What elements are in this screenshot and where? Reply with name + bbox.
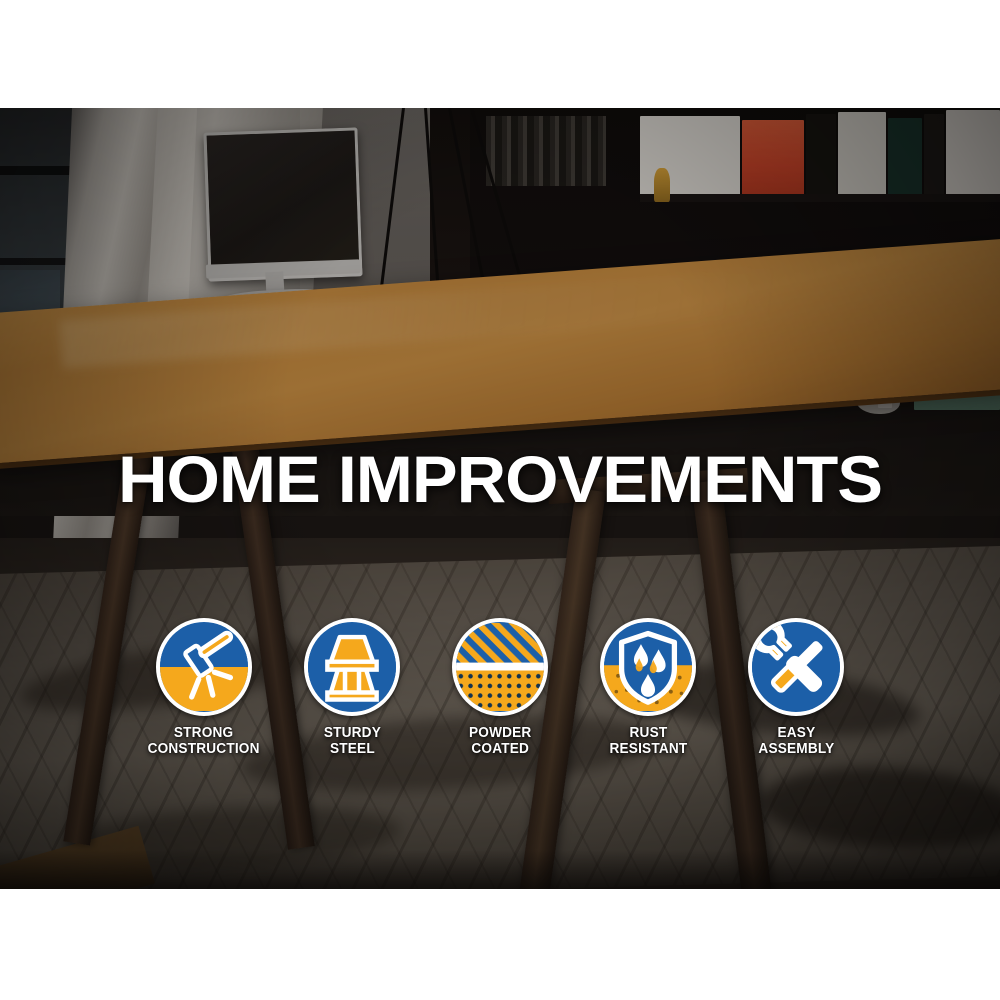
page-title: HOME IMPROVEMENTS — [0, 446, 1000, 512]
feature-label: EASY ASSEMBLY — [758, 725, 834, 757]
feature-powder-coated[interactable]: POWDER COATED — [441, 618, 559, 757]
feature-label: STURDY STEEL — [323, 725, 380, 757]
feature-rust-resistant[interactable]: RUST RESISTANT — [589, 618, 707, 757]
feature-label-line1: STRONG — [174, 725, 233, 741]
feature-label-line1: POWDER — [469, 725, 531, 741]
feature-label: RUST RESISTANT — [609, 725, 687, 757]
shield-water-droplets-icon — [600, 618, 696, 716]
feature-label-line1: RUST — [629, 725, 667, 741]
screwdriver-wrench-icon — [748, 618, 844, 716]
feature-label-line2: CONSTRUCTION — [148, 741, 260, 757]
feature-strong-construction[interactable]: STRONG CONSTRUCTION — [145, 618, 263, 757]
feature-label-line2: STEEL — [330, 741, 375, 757]
feature-easy-assembly[interactable]: EASY ASSEMBLY — [737, 618, 855, 757]
feature-sturdy-steel[interactable]: STURDY STEEL — [293, 618, 411, 757]
feature-label-line2: COATED — [471, 741, 529, 757]
banner-stage: HOME IMPROVEMENTS — [0, 0, 1000, 1000]
powder-coat-texture-icon — [452, 618, 548, 716]
feature-label: POWDER COATED — [469, 725, 531, 757]
feature-label-line1: EASY — [777, 725, 815, 741]
feature-badge-row: STRONG CONSTRUCTION — [145, 618, 855, 798]
steel-ibeam-icon — [304, 618, 400, 716]
feature-label-line1: STURDY — [323, 725, 380, 741]
feature-label-line2: ASSEMBLY — [758, 741, 834, 757]
feature-label-line2: RESISTANT — [609, 741, 687, 757]
product-lifestyle-photo: HOME IMPROVEMENTS — [0, 108, 1000, 889]
feature-label: STRONG CONSTRUCTION — [148, 725, 260, 757]
hammer-strike-icon — [156, 618, 252, 716]
